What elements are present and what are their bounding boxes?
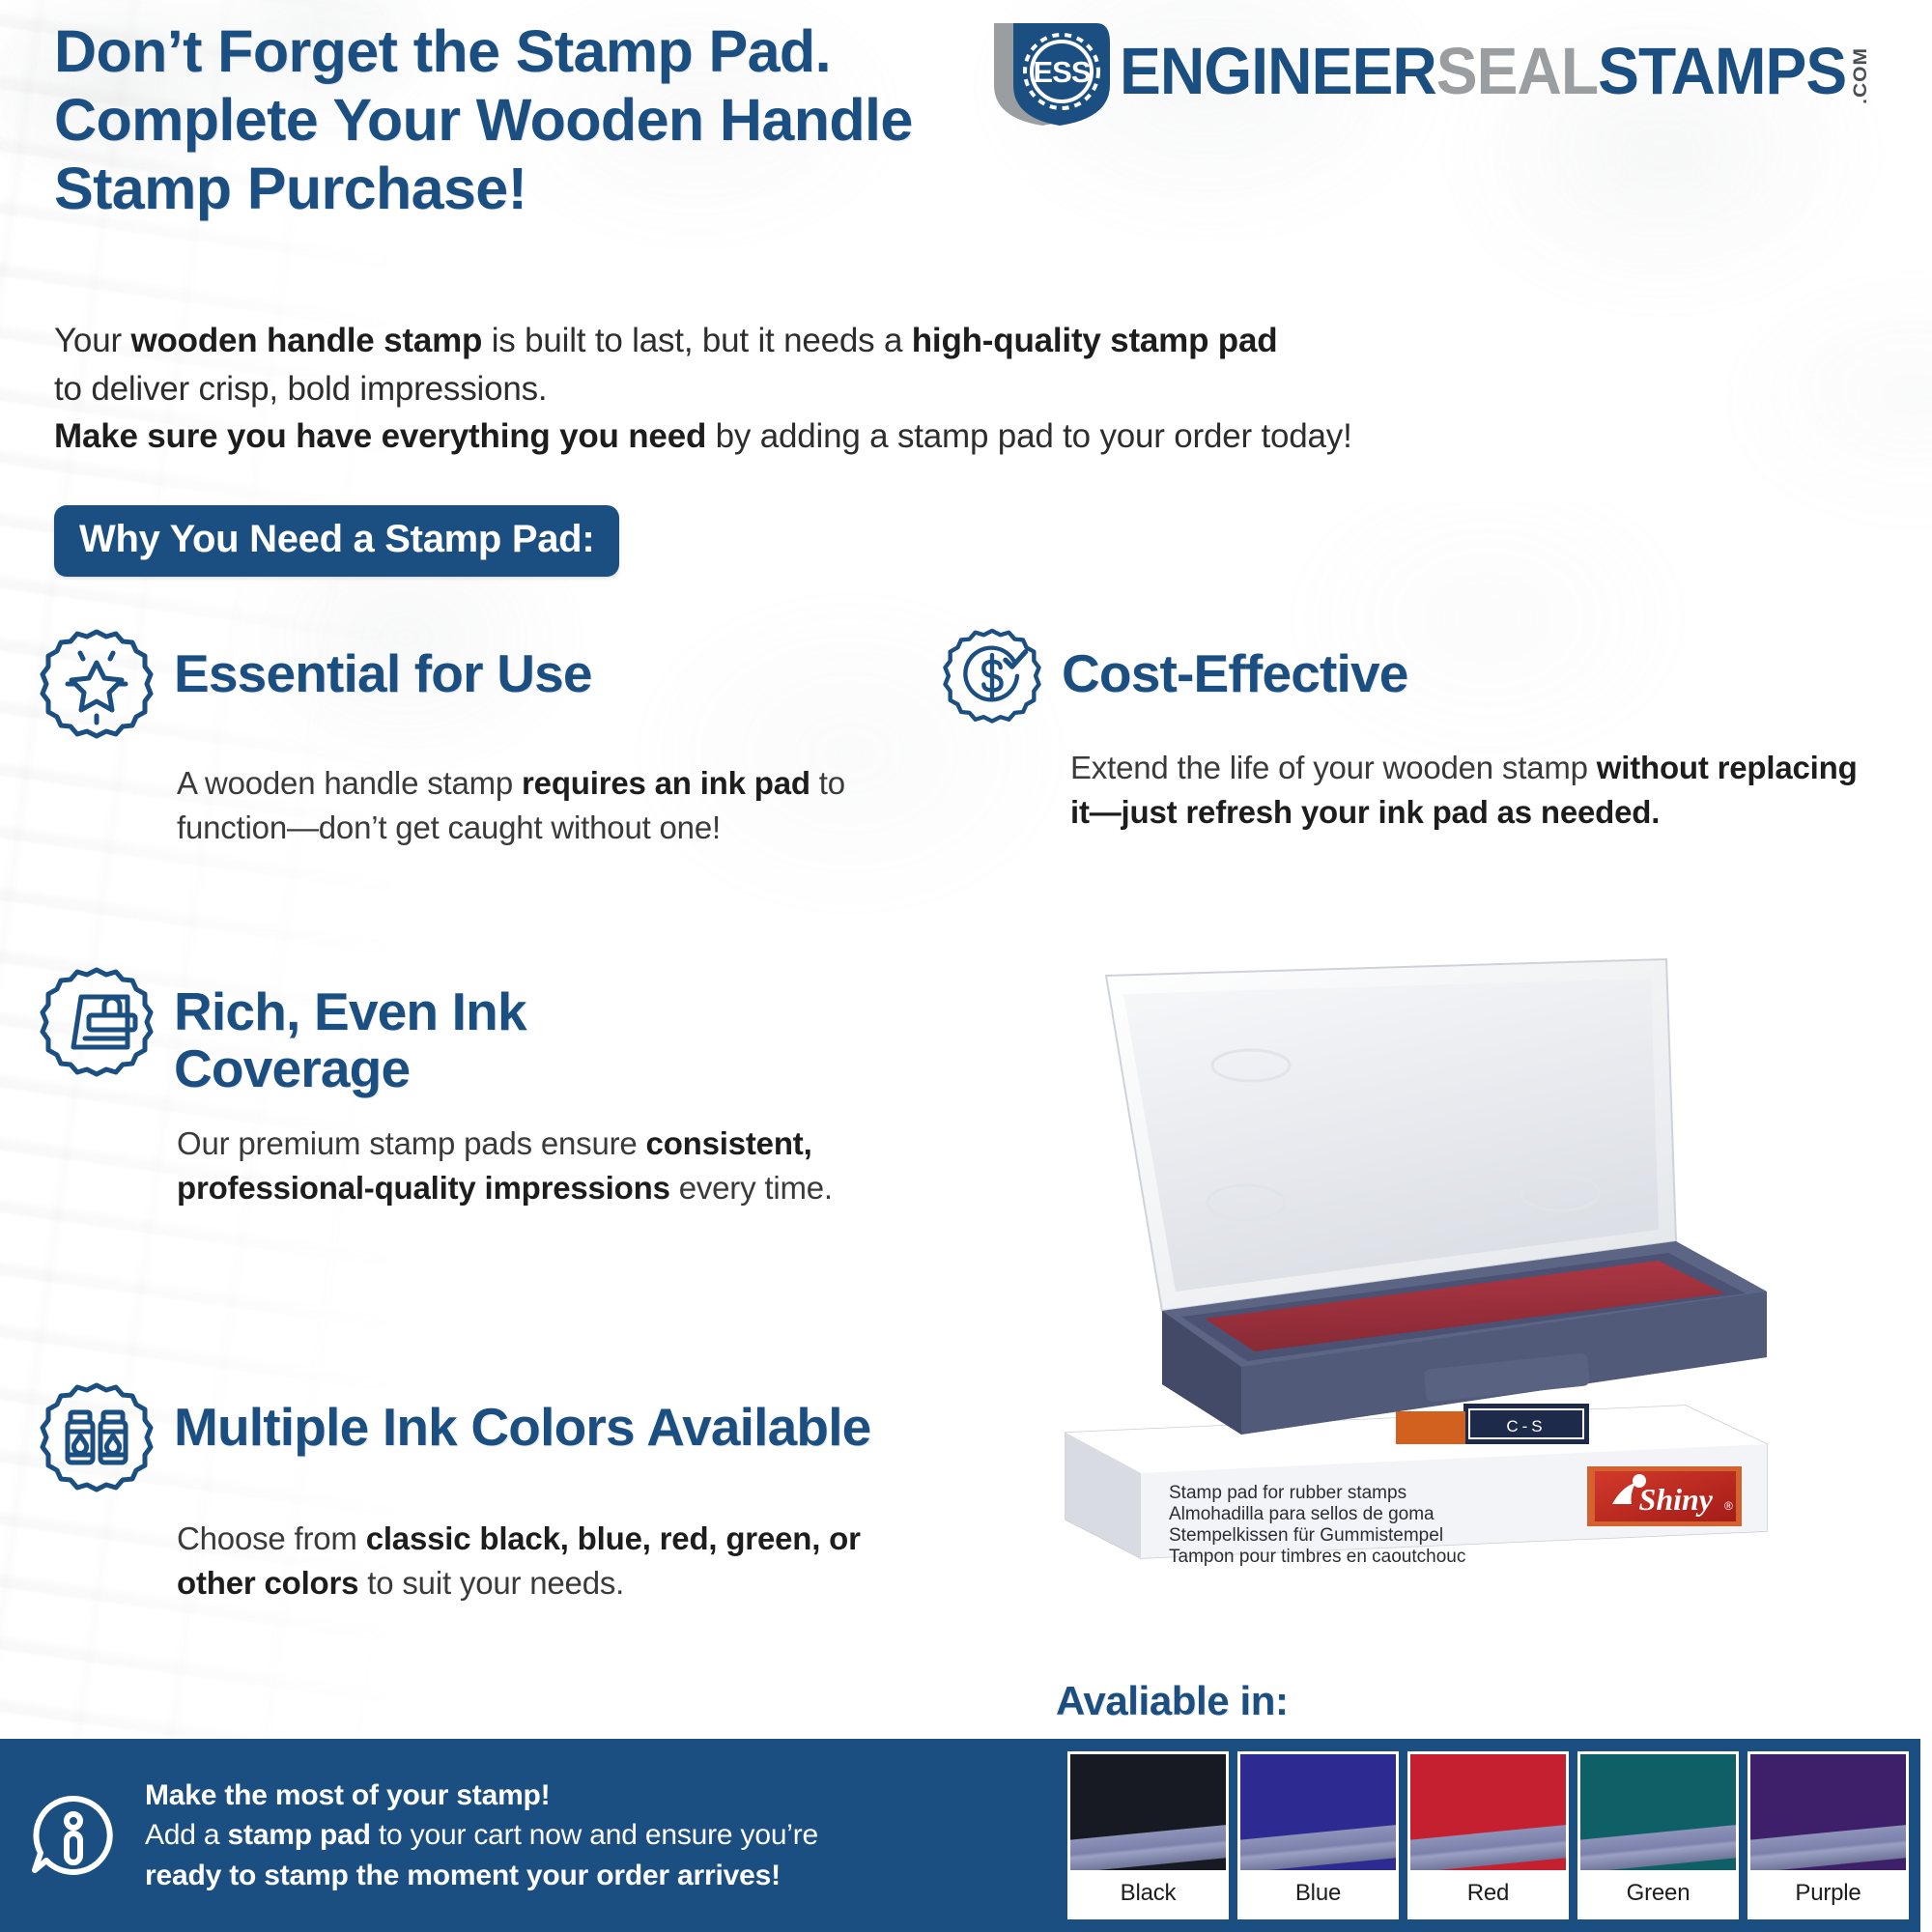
feature-title: Essential for Use — [174, 628, 592, 702]
feature-body: Our premium stamp pads ensure consistent… — [177, 1122, 853, 1210]
svg-text:Tampon pour timbres en caoutch: Tampon pour timbres en caoutchouc — [1169, 1547, 1465, 1567]
svg-text:ESS: ESS — [1034, 55, 1091, 89]
svg-text:Shiny: Shiny — [1639, 1482, 1714, 1517]
feature-body: Extend the life of your wooden stamp wit… — [1070, 746, 1872, 835]
feature-multiple-ink-colors: Multiple Ink Colors Available Choose fro… — [39, 1381, 937, 1605]
feature-rich-even-ink-coverage: Rich, Even Ink Coverage Our premium stam… — [39, 966, 889, 1210]
brand-wordmark: ENGINEERSEALSTAMPS .COM — [1120, 38, 1869, 104]
info-bubble-icon — [25, 1789, 118, 1882]
svg-text:Stempelkissen für Gummistempel: Stempelkissen für Gummistempel — [1169, 1525, 1443, 1546]
shiny-brand-badge: Shiny ® — [1587, 1466, 1742, 1526]
section-banner: Why You Need a Stamp Pad: — [54, 505, 619, 577]
ess-shield-icon: ESS — [988, 14, 1110, 128]
footer-line-2: Add a stamp pad to your cart now and ens… — [145, 1815, 818, 1855]
swatch-label: Black — [1070, 1870, 1226, 1917]
footer-callout: Make the most of your stamp! Add a stamp… — [0, 1739, 1056, 1932]
feature-title: Cost-Effective — [1062, 628, 1408, 702]
feature-body: Choose from classic black, blue, red, gr… — [177, 1517, 940, 1605]
swatch-red[interactable]: Red — [1407, 1751, 1569, 1919]
swatch-label: Red — [1410, 1870, 1566, 1917]
svg-text:C-S: C-S — [1506, 1417, 1546, 1435]
footer-text: Make the most of your stamp! Add a stamp… — [145, 1776, 818, 1895]
swatch-green[interactable]: Green — [1577, 1751, 1739, 1919]
feature-title: Rich, Even Ink Coverage — [174, 966, 715, 1098]
swatch-purple[interactable]: Purple — [1747, 1751, 1909, 1919]
svg-text:®: ® — [1724, 1499, 1733, 1513]
feature-cost-effective: Cost-Effective Extend the life of your w… — [942, 628, 1879, 835]
headline-line-3: Stamp Purchase! — [54, 155, 1223, 223]
product-box: Stamp pad for rubber stamps Almohadilla … — [1065, 1404, 1767, 1567]
dollar-check-badge-icon — [942, 624, 1042, 724]
star-badge-icon — [39, 624, 155, 740]
footer-line-1: Make the most of your stamp! — [145, 1776, 818, 1815]
intro-line-3: Make sure you have everything you need b… — [54, 412, 1793, 461]
logo-word-engineer: ENGINEER — [1120, 38, 1436, 104]
swatch-label: Purple — [1750, 1870, 1906, 1917]
product-photo-stamp-pad: Stamp pad for rubber stamps Almohadilla … — [1048, 952, 1782, 1579]
feature-body: A wooden handle stamp requires an ink pa… — [177, 761, 882, 850]
swatch-label: Green — [1580, 1870, 1736, 1917]
available-in-title: Avaliable in: — [1056, 1678, 1289, 1724]
swatch-label: Blue — [1240, 1870, 1396, 1917]
logo-dotcom: .COM — [1851, 45, 1870, 104]
stamp-badge-icon — [39, 962, 155, 1078]
logo-word-stamps: STAMPS — [1598, 38, 1846, 104]
swatch-blue[interactable]: Blue — [1237, 1751, 1399, 1919]
brand-logo[interactable]: ESS ENGINEERSEALSTAMPS .COM — [988, 14, 1926, 128]
swatch-black[interactable]: Black — [1067, 1751, 1229, 1919]
color-swatch-panel: Black Blue Red Green Purple — [1056, 1739, 1920, 1932]
ink-bottles-badge-icon — [39, 1378, 155, 1493]
intro-line-2: to deliver crisp, bold impressions. — [54, 365, 1793, 413]
svg-text:Almohadilla para sellos de gom: Almohadilla para sellos de goma — [1169, 1504, 1435, 1524]
intro-line-1: Your wooden handle stamp is built to las… — [54, 317, 1793, 365]
feature-title: Multiple Ink Colors Available — [174, 1381, 889, 1456]
intro-paragraph: Your wooden handle stamp is built to las… — [54, 317, 1793, 461]
logo-word-seal: SEAL — [1436, 38, 1598, 104]
infographic-page: Don’t Forget the Stamp Pad. Complete You… — [0, 0, 1932, 1932]
svg-text:Stamp pad for rubber stamps: Stamp pad for rubber stamps — [1169, 1483, 1406, 1503]
stamp-pad-illustration: Stamp pad for rubber stamps Almohadilla … — [1048, 952, 1782, 1579]
footer-line-3: ready to stamp the moment your order arr… — [145, 1856, 818, 1895]
feature-essential-for-use: Essential for Use A wooden handle stamp … — [39, 628, 889, 850]
